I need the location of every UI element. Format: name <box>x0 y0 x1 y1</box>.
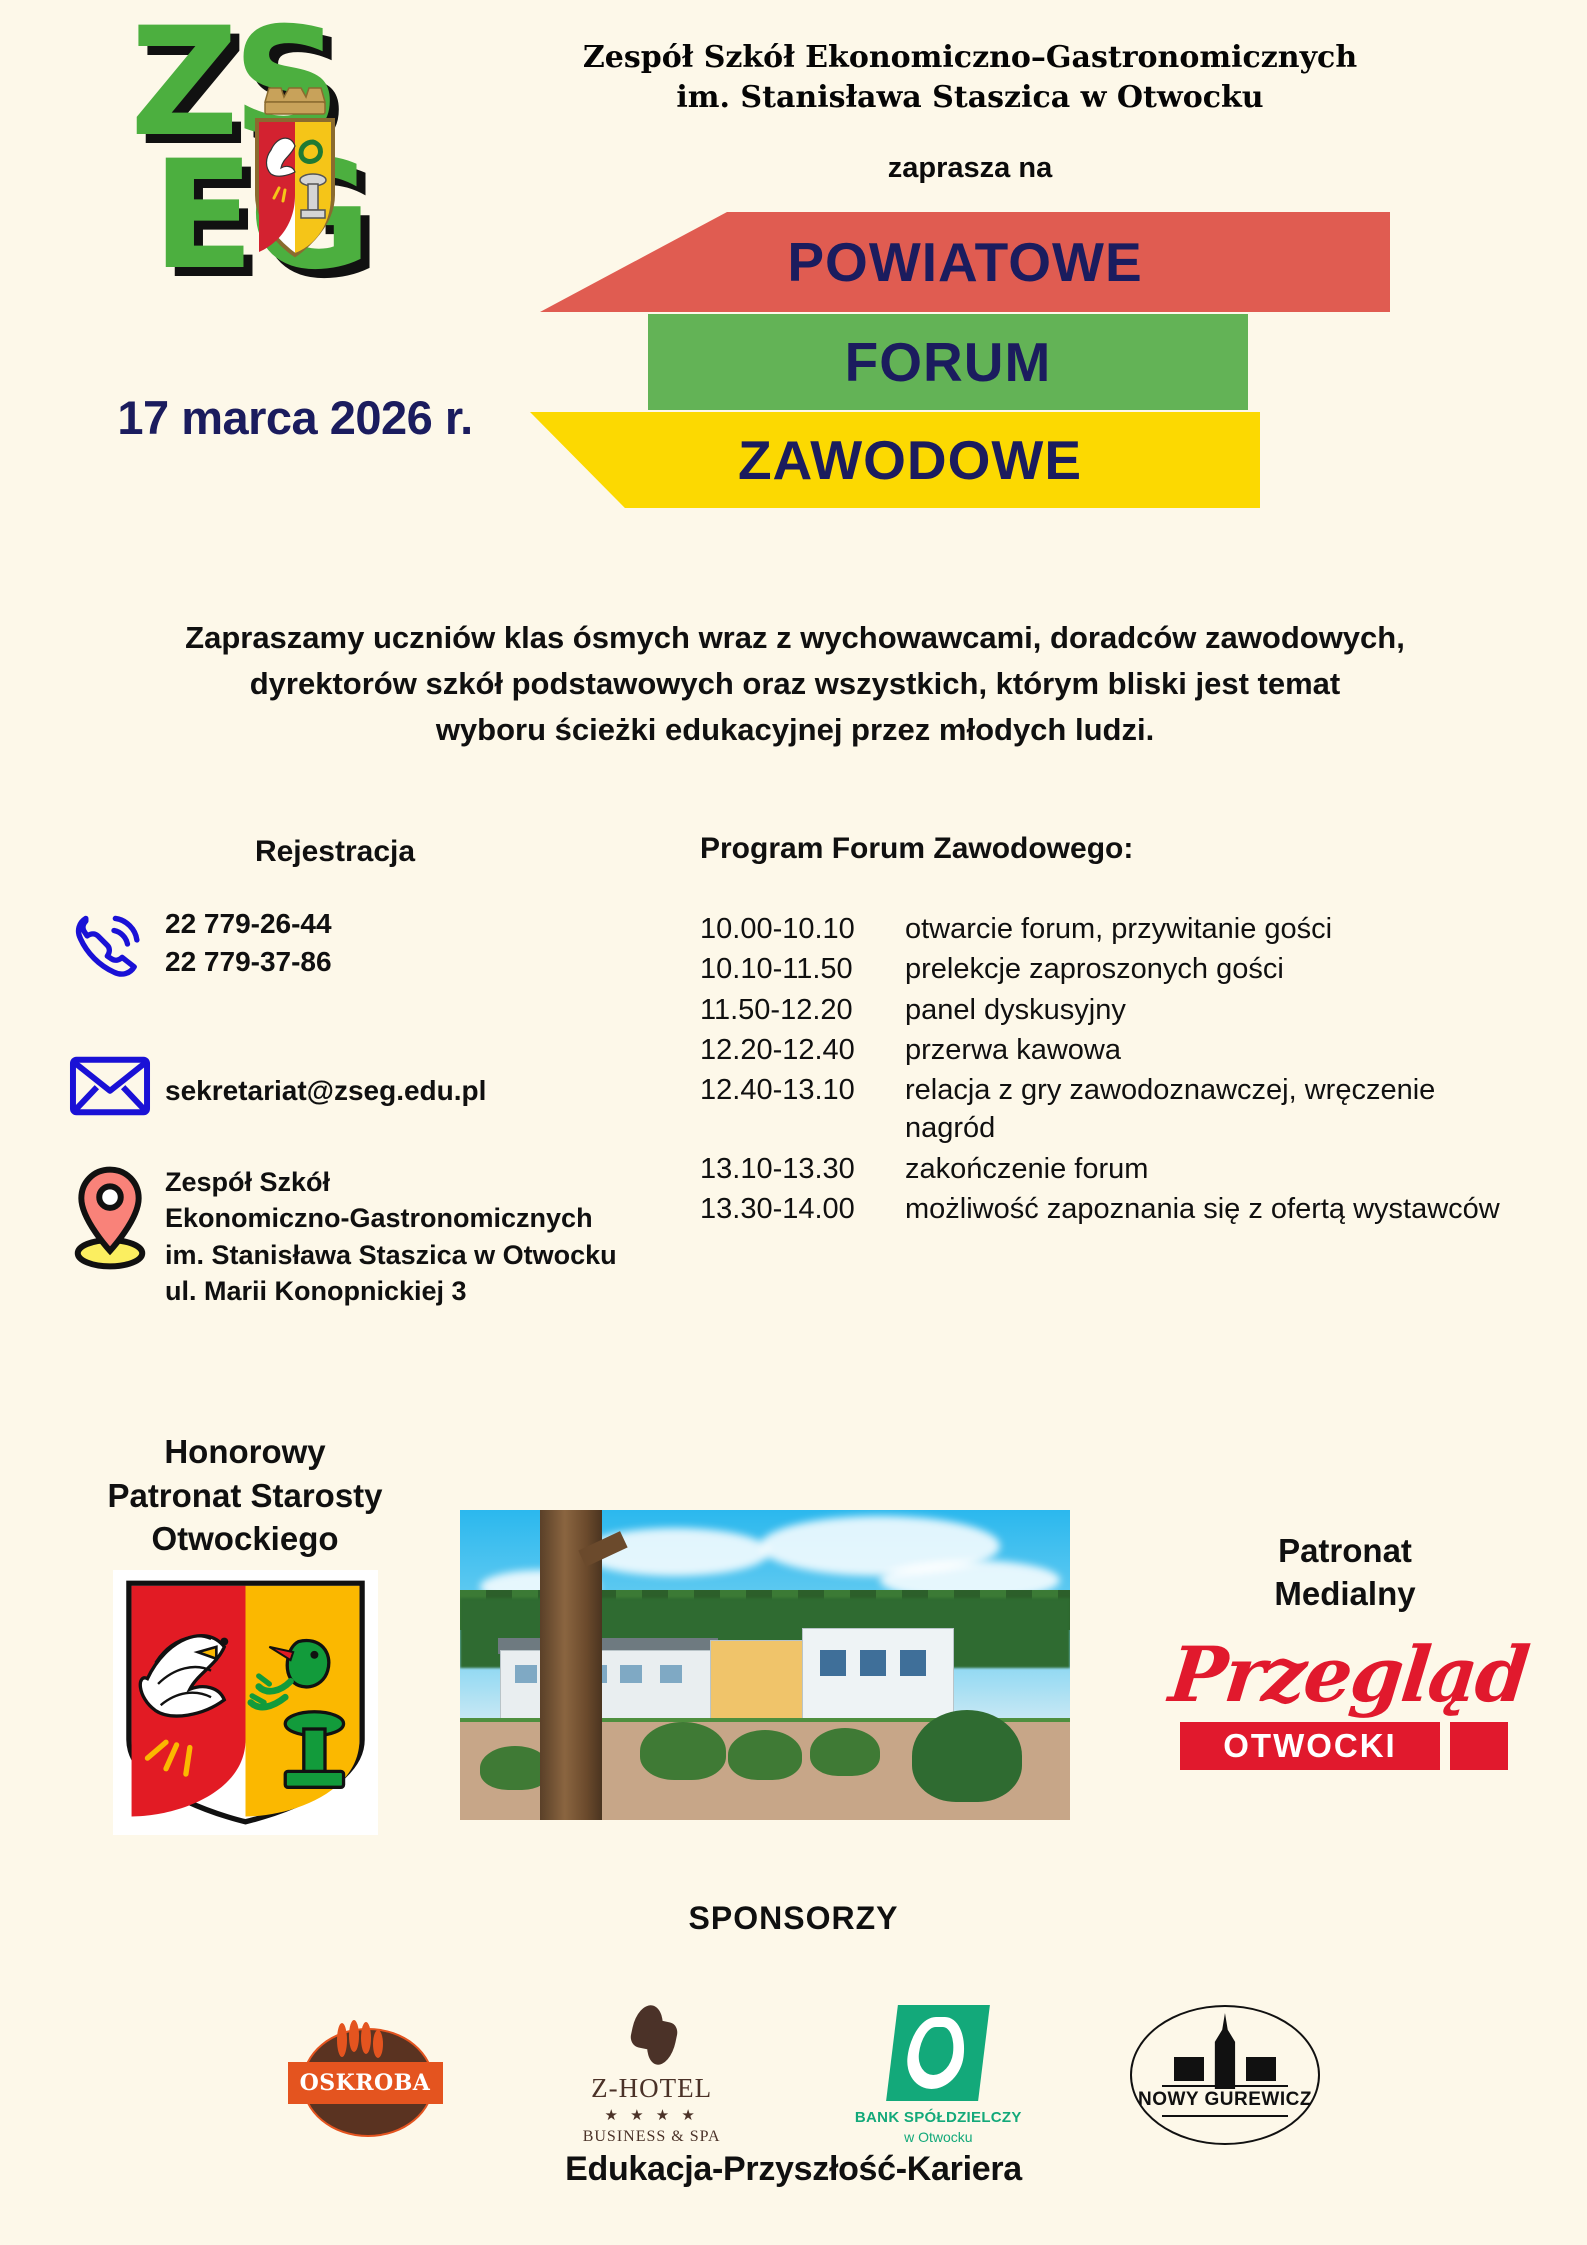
honorary-patronage-title: Honorowy Patronat Starosty Otwockiego <box>55 1430 435 1561</box>
nowy-gurewicz-rule-bottom <box>1162 2115 1288 2117</box>
photo-window <box>900 1650 926 1676</box>
photo-building <box>802 1628 954 1724</box>
program-time: 13.30-14.00 <box>700 1190 905 1228</box>
program-row: 11.50-12.20 panel dyskusyjny <box>700 991 1500 1029</box>
address-line-1: Zespół Szkół <box>165 1164 617 1200</box>
program-desc: panel dyskusyjny <box>905 991 1500 1029</box>
email-address: sekretariat@zseg.edu.pl <box>165 1050 486 1110</box>
program-row: 12.20-12.40 przerwa kawowa <box>700 1031 1500 1069</box>
intro-line1: Zapraszamy uczniów klas ósmych wraz z wy… <box>70 615 1520 661</box>
program-desc: otwarcie forum, przywitanie gości <box>905 910 1500 948</box>
program-row: 10.10-11.50 prelekcje zaproszonych gości <box>700 950 1500 988</box>
program-list: 10.00-10.10 otwarcie forum, przywitanie … <box>700 910 1500 1230</box>
photo-bush <box>810 1728 880 1776</box>
media-line-2: Medialny <box>1180 1573 1510 1616</box>
oskroba-band: OSKROBA <box>288 2062 443 2104</box>
event-title-banner: POWIATOWE FORUM ZAWODOWE <box>540 212 1460 542</box>
sponsor-nowy-gurewicz-logo: NOWY GUREWICZ <box>1110 1995 1340 2155</box>
program-desc: prelekcje zaproszonych gości <box>905 950 1500 988</box>
school-name-line2: im. Stanisława Staszica w Otwocku <box>480 78 1460 118</box>
nowy-gurewicz-mark: NOWY GUREWICZ <box>1130 2005 1320 2145</box>
nowy-gurewicz-wordmark: NOWY GUREWICZ <box>1130 2089 1320 2111</box>
zhotel-wordmark: Z-HOTEL <box>591 2073 712 2104</box>
przeglad-accent-block <box>1450 1722 1508 1770</box>
phone-numbers: 22 779-26-44 22 779-37-86 <box>165 905 332 981</box>
banner-line-3: ZAWODOWE <box>738 428 1082 492</box>
media-patronage-title: Patronat Medialny <box>1180 1530 1510 1616</box>
photo-bush <box>912 1710 1022 1802</box>
registration-title: Rejestracja <box>170 835 500 869</box>
building-wing-right <box>1246 2057 1276 2081</box>
phone-icon <box>55 905 165 991</box>
location-pin-icon <box>55 1160 165 1270</box>
program-time: 13.10-13.30 <box>700 1150 905 1188</box>
honorary-line-1: Honorowy <box>55 1430 435 1474</box>
banner-ribbon-green: FORUM <box>648 314 1248 410</box>
banner-line-2: FORUM <box>845 330 1052 394</box>
program-time: 10.00-10.10 <box>700 910 905 948</box>
oskroba-mark: OSKROBA <box>288 2010 443 2140</box>
school-photo <box>460 1510 1070 1820</box>
program-time: 10.10-11.50 <box>700 950 905 988</box>
przeglad-subtitle: OTWOCKI <box>1180 1722 1440 1770</box>
program-desc: zakończenie forum <box>905 1150 1500 1188</box>
sponsor-oskroba-logo: OSKROBA <box>250 1995 480 2155</box>
contact-phone-row: 22 779-26-44 22 779-37-86 <box>55 905 332 991</box>
sponsor-bank-logo: BANK SPÓŁDZIELCZY w Otwocku <box>823 1995 1053 2155</box>
zhotel-stars: ★ ★ ★ ★ <box>605 2106 699 2124</box>
contact-address-row: Zespół Szkół Ekonomiczno-Gastronomicznyc… <box>55 1160 617 1310</box>
program-row: 12.40-13.10 relacja z gry zawodoznawczej… <box>700 1071 1500 1148</box>
photo-building <box>710 1640 807 1724</box>
address-line-3: im. Stanisława Staszica w Otwocku <box>165 1237 617 1273</box>
invites-text: zaprasza na <box>480 152 1460 185</box>
program-desc: relacja z gry zawodoznawczej, wręczenie … <box>905 1071 1500 1148</box>
sponsors-title: SPONSORZY <box>0 1900 1587 1937</box>
school-name: Zespół Szkół Ekonomiczno–Gastronomicznyc… <box>480 38 1460 118</box>
bank-leaf-shape <box>904 2017 969 2089</box>
banner-line-1: POWIATOWE <box>787 230 1142 294</box>
program-desc: przerwa kawowa <box>905 1031 1500 1069</box>
otwock-county-coat-of-arms <box>113 1570 378 1835</box>
banner-ribbon-red: POWIATOWE <box>540 212 1390 312</box>
event-date: 17 marca 2026 r. <box>35 390 555 445</box>
address-line-4: ul. Marii Konopnickiej 3 <box>165 1273 617 1309</box>
program-time: 12.40-13.10 <box>700 1071 905 1148</box>
program-row: 13.10-13.30 zakończenie forum <box>700 1150 1500 1188</box>
nowy-gurewicz-rule-top <box>1162 2085 1288 2087</box>
school-address: Zespół Szkół Ekonomiczno-Gastronomicznyc… <box>165 1160 617 1310</box>
zhotel-subtitle: BUSINESS & SPA <box>583 2128 721 2146</box>
intro-line2: dyrektorów szkół podstawowych oraz wszys… <box>70 661 1520 707</box>
photo-window <box>620 1665 642 1683</box>
media-line-1: Patronat <box>1180 1530 1510 1573</box>
photo-bush <box>728 1730 802 1780</box>
poster-tagline: Edukacja-Przyszłość-Kariera <box>0 2150 1587 2189</box>
address-line-2: Ekonomiczno-Gastronomicznych <box>165 1200 617 1236</box>
contact-email-row: sekretariat@zseg.edu.pl <box>55 1050 486 1122</box>
wheat-icon <box>332 2020 392 2066</box>
photo-window <box>660 1665 682 1683</box>
phone-number-1: 22 779-26-44 <box>165 905 332 943</box>
program-time: 12.20-12.40 <box>700 1031 905 1069</box>
przeglad-wordmark: Przegląd <box>1165 1630 1531 1719</box>
program-row: 10.00-10.10 otwarcie forum, przywitanie … <box>700 910 1500 948</box>
program-desc: możliwość zapoznania się z ofertą wystaw… <box>905 1190 1500 1228</box>
photo-window <box>515 1665 537 1683</box>
envelope-icon <box>55 1050 165 1122</box>
otwock-crest-small-icon <box>235 80 355 275</box>
phone-number-2: 22 779-37-86 <box>165 943 332 981</box>
school-name-line1: Zespół Szkół Ekonomiczno–Gastronomicznyc… <box>480 38 1460 78</box>
program-title: Program Forum Zawodowego: <box>700 832 1400 866</box>
sponsor-logos-row: OSKROBA Z-HOTEL ★ ★ ★ ★ BUSINESS & SPA B… <box>250 1995 1340 2155</box>
bank-wordmark: BANK SPÓŁDZIELCZY <box>855 2109 1022 2126</box>
photo-window <box>860 1650 886 1676</box>
zseg-logo: ZS EG <box>130 20 430 310</box>
przeglad-otwocki-logo: Przegląd OTWOCKI <box>1160 1630 1540 1795</box>
oskroba-wordmark: OSKROBA <box>300 2070 431 2096</box>
intro-paragraph: Zapraszamy uczniów klas ósmych wraz z wy… <box>70 615 1520 753</box>
bank-location: w Otwocku <box>904 2129 972 2145</box>
zhotel-mark-icon <box>623 2005 681 2067</box>
building-wing-left <box>1174 2057 1204 2081</box>
bank-leaf-icon <box>886 2005 990 2101</box>
photo-building <box>500 1650 717 1724</box>
photo-bush <box>640 1722 726 1780</box>
intro-line3: wyboru ścieżki edukacyjnej przez młodych… <box>70 707 1520 753</box>
photo-window <box>820 1650 846 1676</box>
banner-ribbon-yellow: ZAWODOWE <box>530 412 1260 508</box>
program-row: 13.30-14.00 możliwość zapoznania się z o… <box>700 1190 1500 1228</box>
program-time: 11.50-12.20 <box>700 991 905 1029</box>
sponsor-zhotel-logo: Z-HOTEL ★ ★ ★ ★ BUSINESS & SPA <box>537 1995 767 2155</box>
poster-root: ZS EG Zespół Szkół Ekonomiczno–Gastronom… <box>0 0 1587 2245</box>
honorary-line-2: Patronat Starosty <box>55 1474 435 1518</box>
honorary-line-3: Otwockiego <box>55 1517 435 1561</box>
